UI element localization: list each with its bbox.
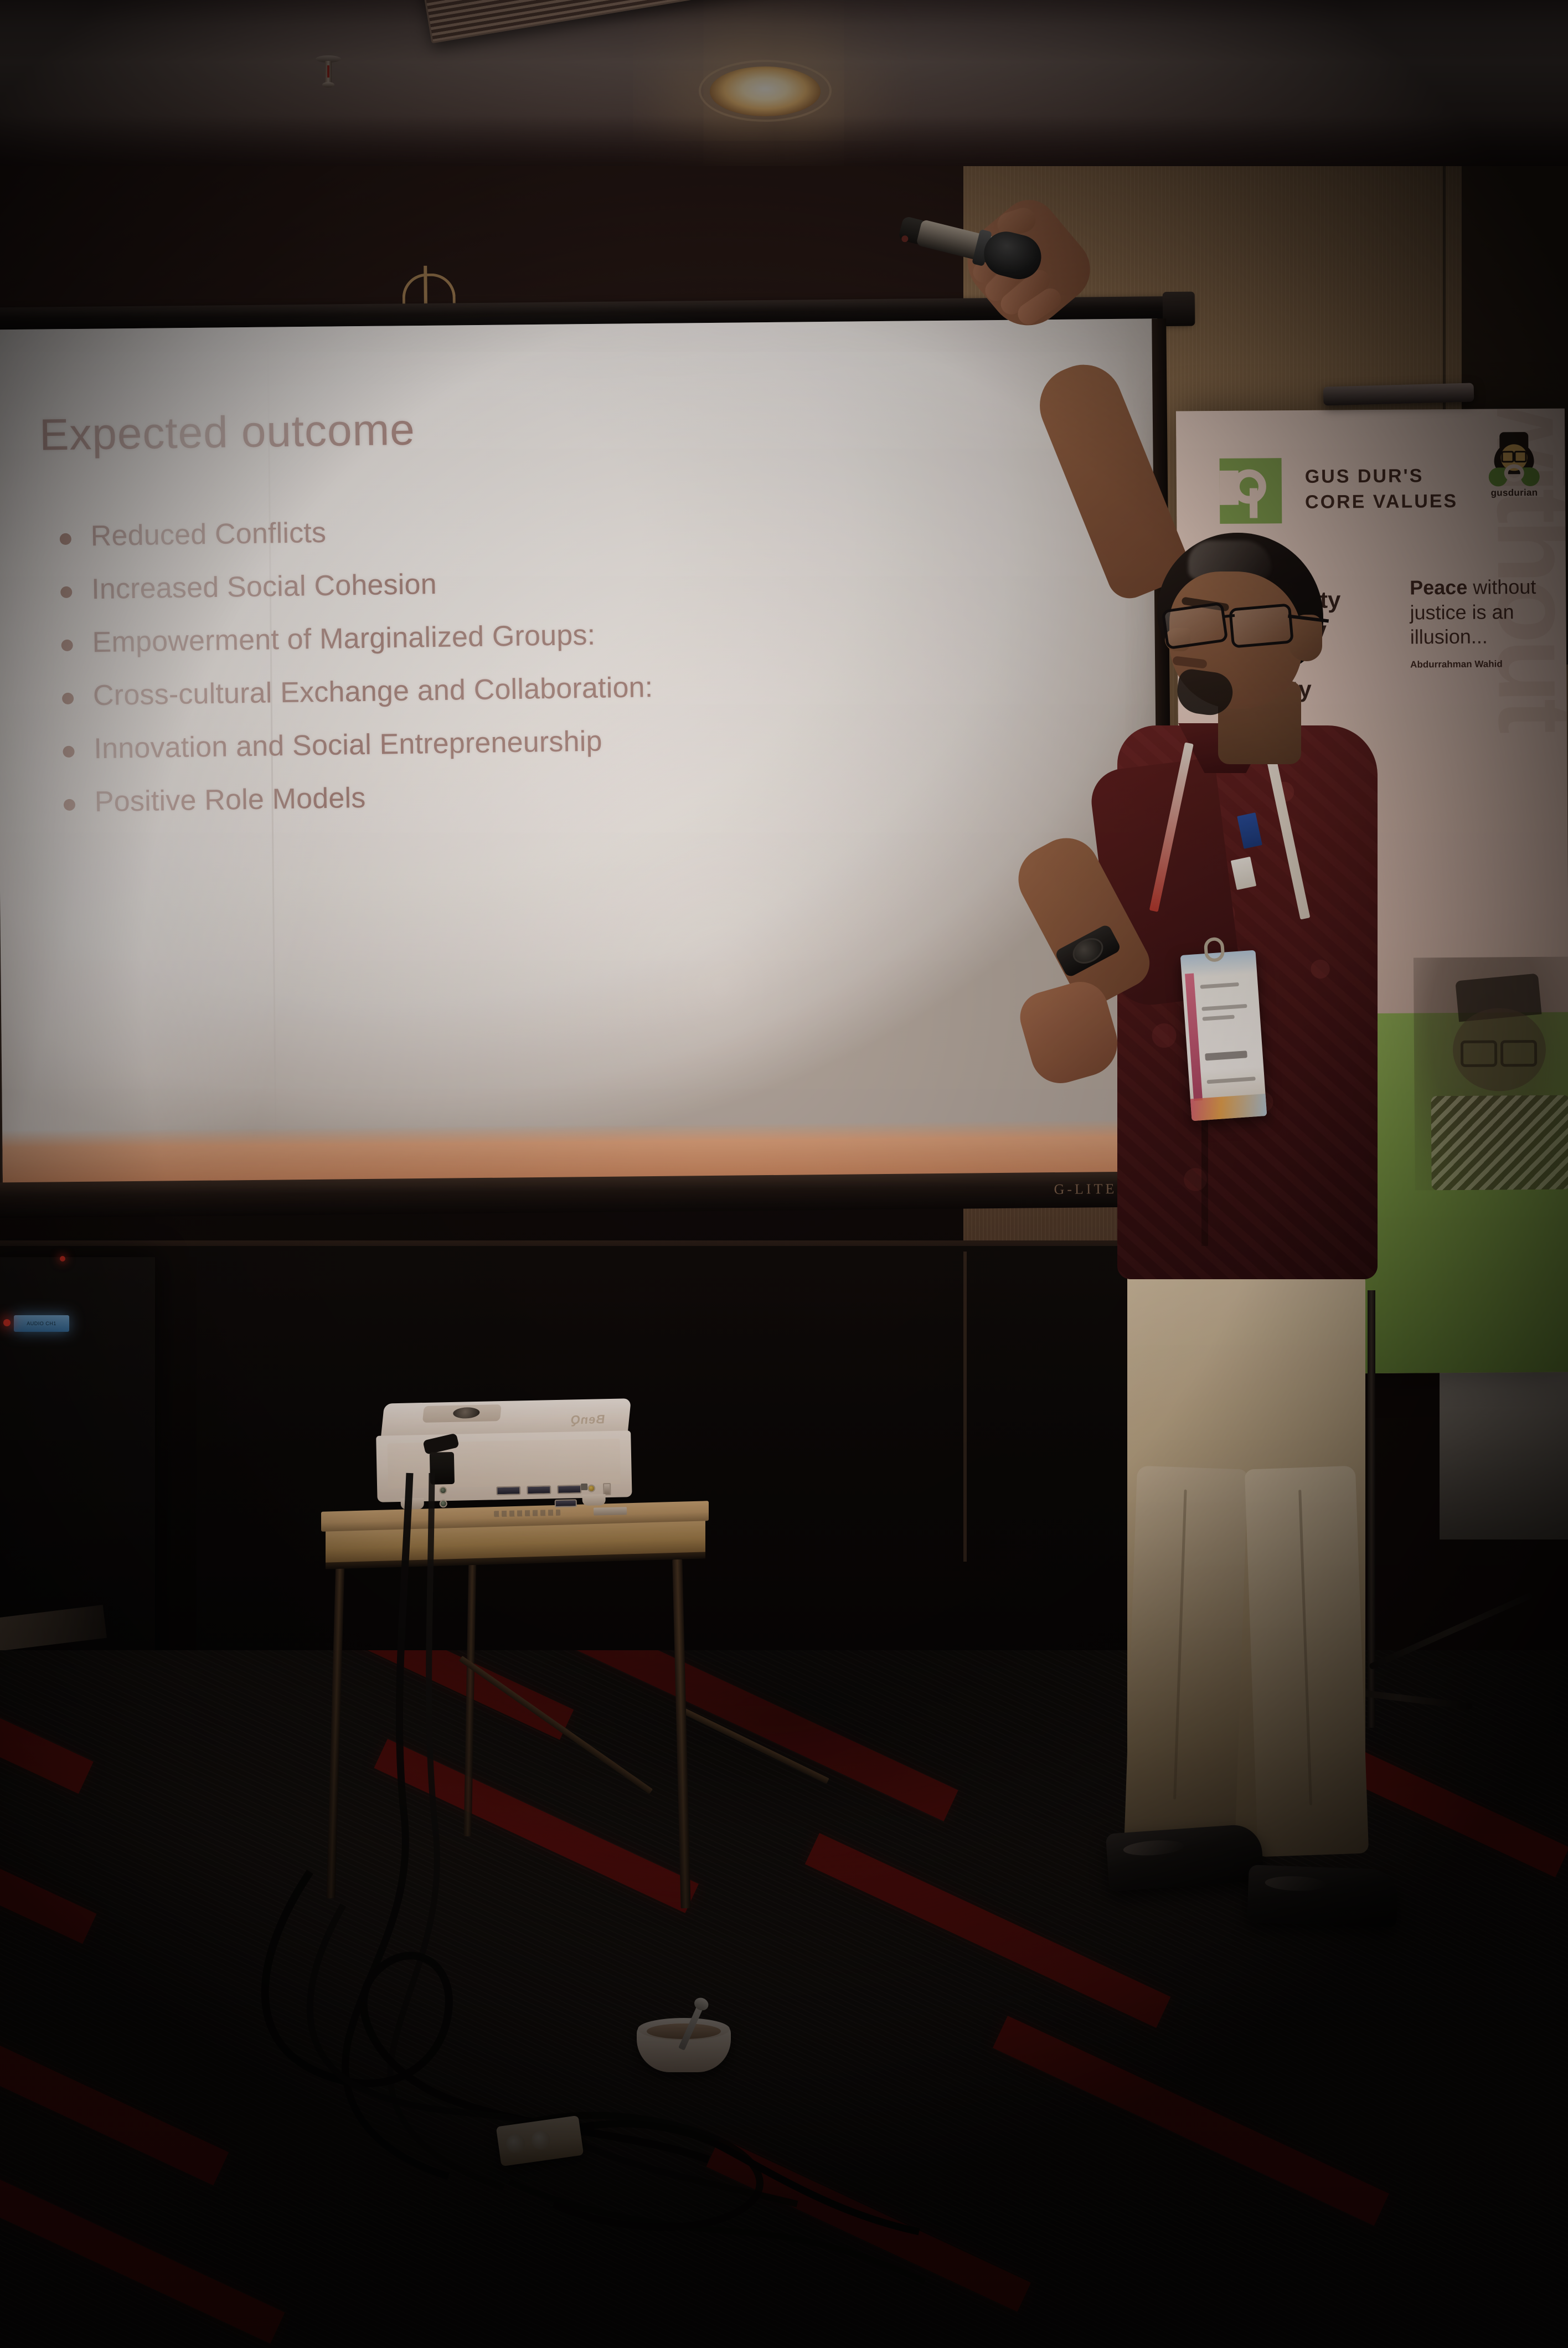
sprinkler-head-icon	[316, 55, 341, 92]
ceramic-bowl	[637, 2016, 731, 2077]
recessed-downlight-icon	[710, 66, 821, 116]
eyeglasses	[1164, 606, 1312, 649]
slide-title: Expected outcome	[39, 404, 415, 461]
slide-bullet: Increased Social Cohesion	[42, 559, 983, 606]
av-rack-lcd-text: AUDIO CH1	[14, 1315, 69, 1332]
power-socket-icon	[530, 2130, 551, 2151]
projector-brand-label: BenQ	[570, 1412, 606, 1427]
slide-bullet-list: Reduced Conflicts Increased Social Cohes…	[40, 506, 986, 839]
banner-title-line2: CORE VALUES	[1305, 489, 1458, 516]
head	[1157, 533, 1323, 715]
speaker-person	[1019, 526, 1440, 1911]
slide-bullet: Cross-cultural Exchange and Collaboratio…	[43, 666, 985, 713]
photo-scene: Expected outcome Reduced Conflicts Incre…	[0, 0, 1568, 2348]
banner-roller-bar	[1323, 383, 1474, 405]
power-socket-icon	[505, 2133, 526, 2154]
nine-values-logo-icon	[1220, 458, 1282, 524]
banner-title: GUS DUR'S CORE VALUES	[1305, 464, 1458, 516]
left-shoe	[1106, 1823, 1265, 1891]
wall-corner-edge	[963, 1252, 967, 1562]
banner-title-line1: GUS DUR'S	[1305, 464, 1458, 490]
av-rack-status-led-icon	[60, 1256, 65, 1261]
trouser-leg	[1124, 1466, 1248, 1852]
name-badge	[1180, 950, 1267, 1121]
slide-bullet: Reduced Conflicts	[40, 506, 982, 553]
gusdurian-logo-icon: gusdurian	[1486, 430, 1542, 492]
slide-bullet: Positive Role Models	[44, 772, 986, 819]
slide-content: Expected outcome Reduced Conflicts Incre…	[22, 394, 1117, 1108]
slide-bullet: Innovation and Social Entrepreneurship	[44, 719, 986, 766]
gusdurian-brand-name: gusdurian	[1487, 487, 1542, 499]
screen-hook-icon	[402, 265, 450, 307]
right-shoe	[1247, 1865, 1398, 1927]
badge-clip-icon	[1204, 937, 1225, 962]
cable-to-socket	[487, 2082, 930, 2315]
trouser-leg	[1245, 1466, 1369, 1857]
av-rack-lcd-display: AUDIO CH1	[14, 1315, 69, 1332]
av-rack-power-led-icon	[3, 1319, 11, 1326]
slide-bullet: Empowerment of Marginalized Groups:	[42, 612, 984, 660]
